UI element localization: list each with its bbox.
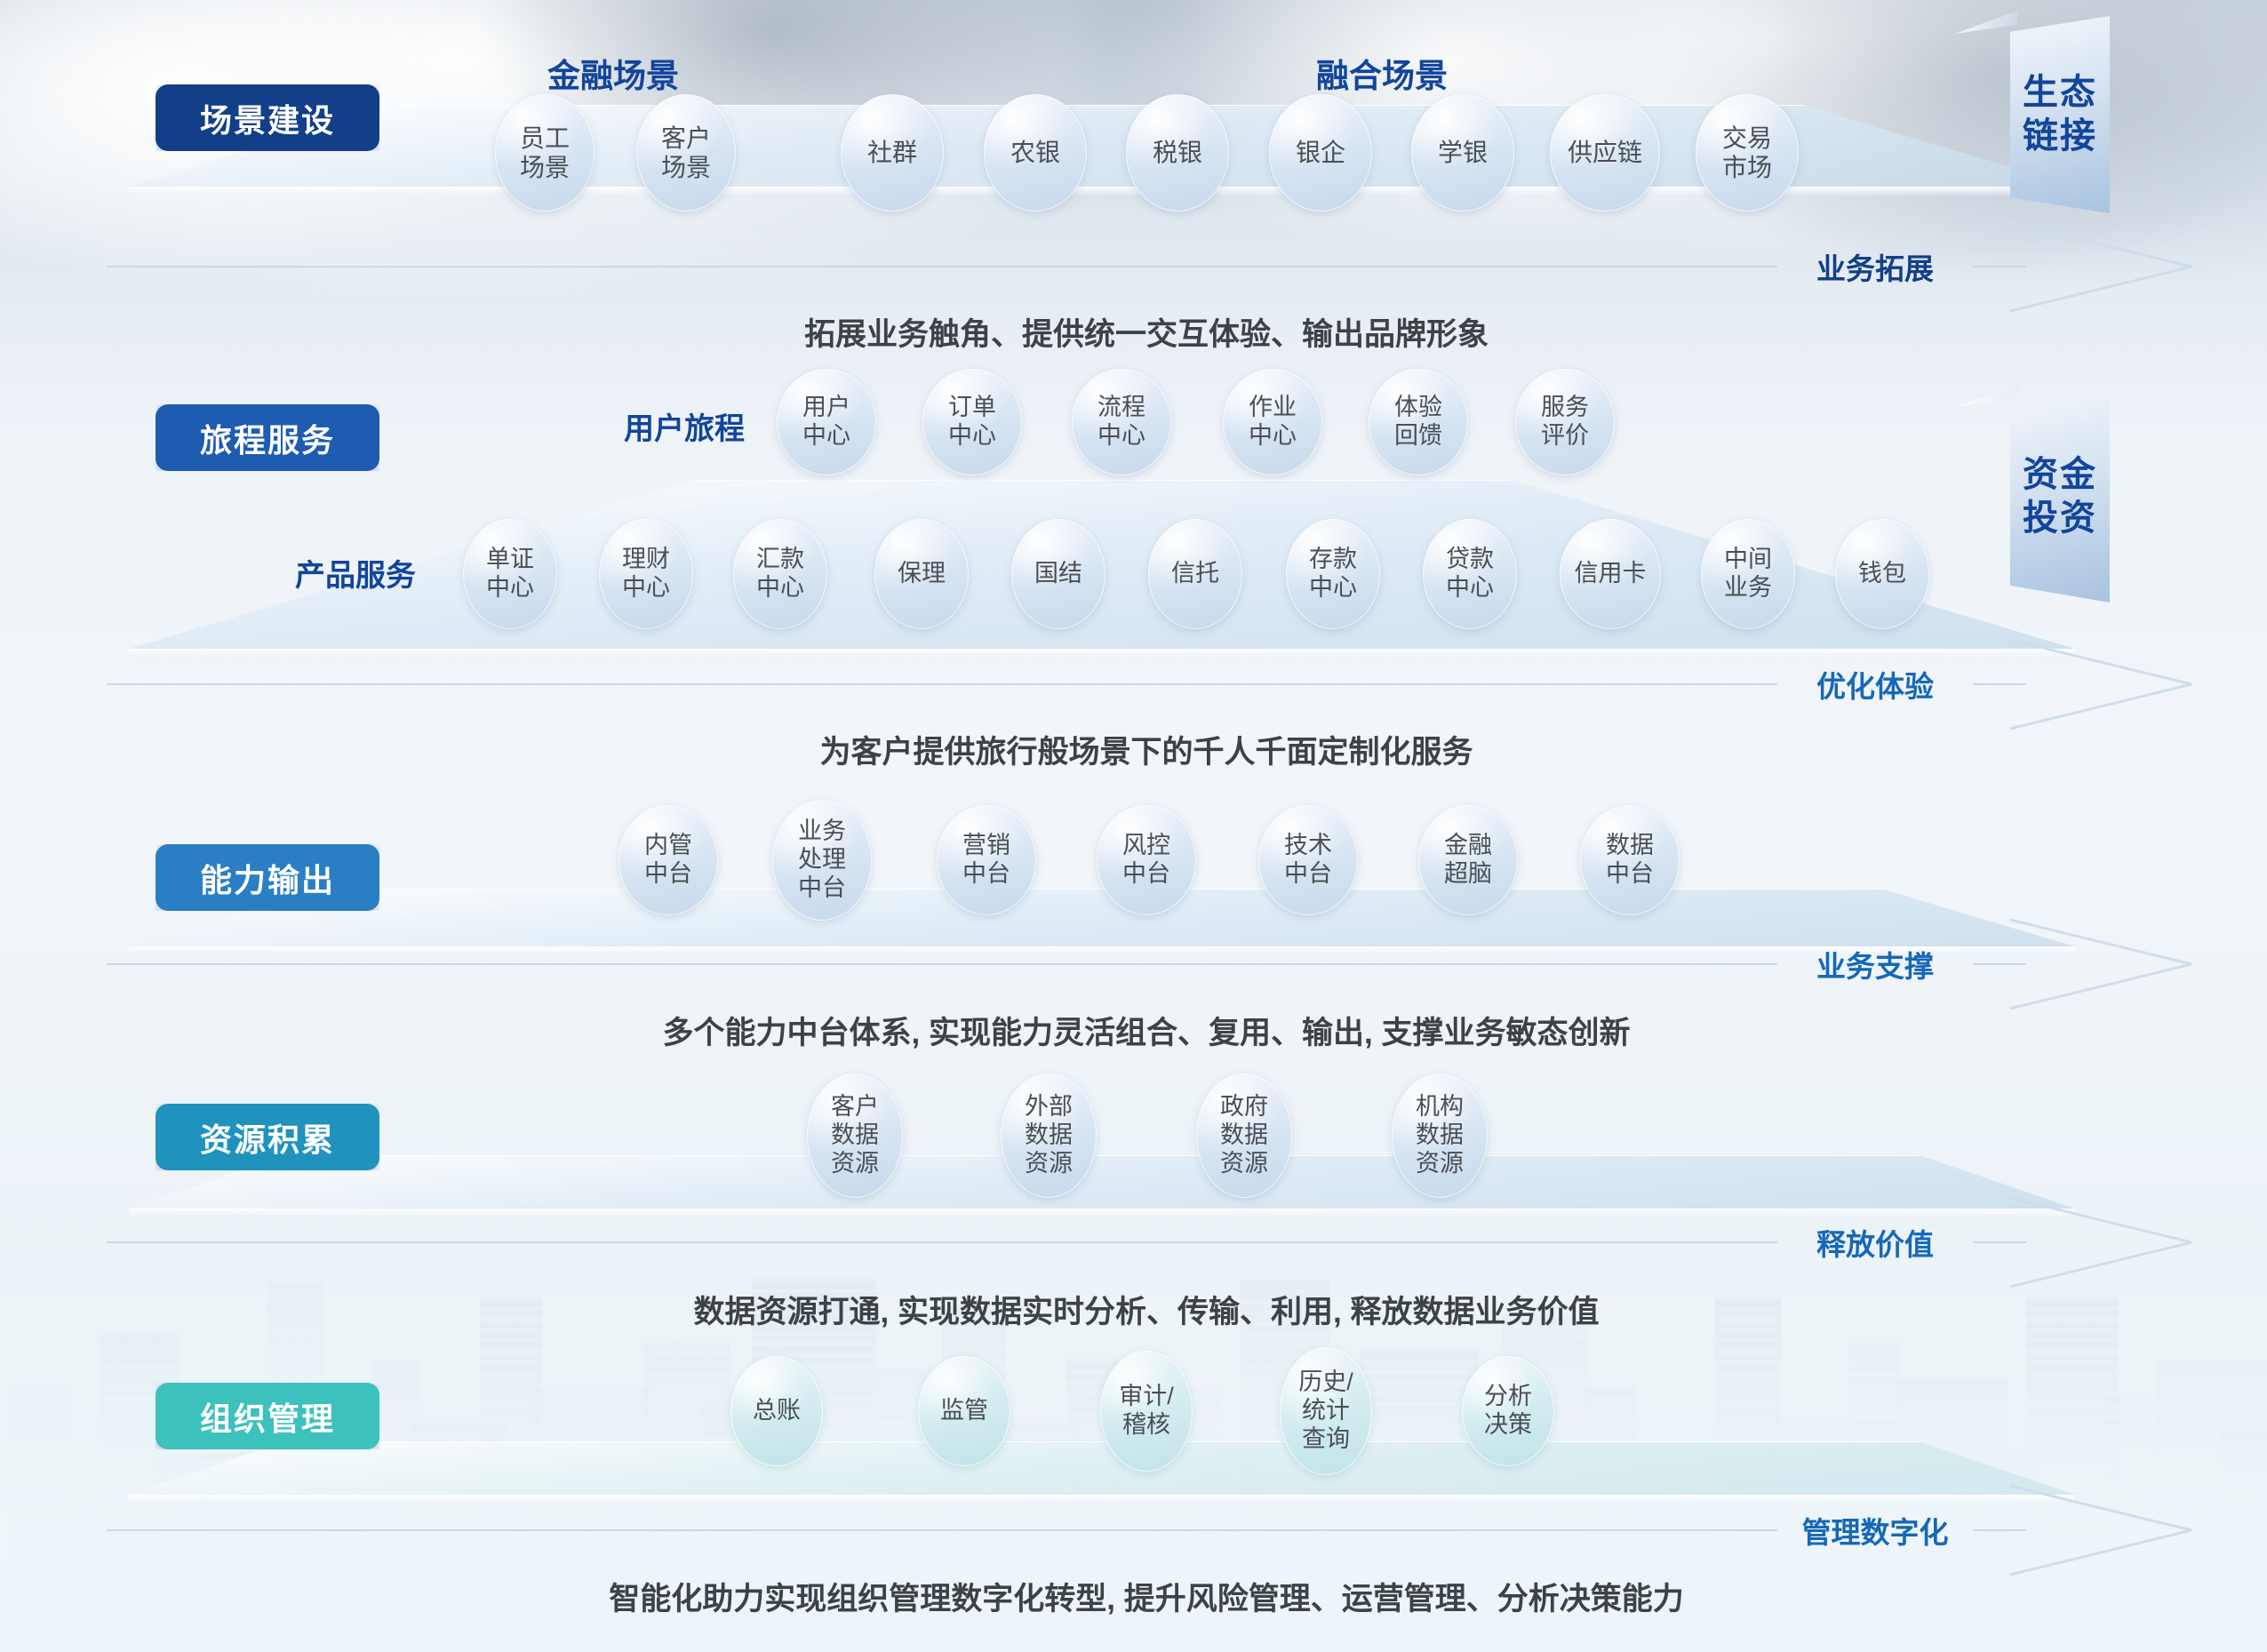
tier-label-scene-construction[interactable]: 场景建设 xyxy=(156,84,379,151)
node-label: 客户场景 xyxy=(661,124,711,182)
node-oval[interactable]: 供应链 xyxy=(1550,94,1660,211)
node-oval[interactable]: 贷款中心 xyxy=(1423,519,1517,629)
tier-label-text: 能力输出 xyxy=(200,855,335,901)
node-oval[interactable]: 业务处理中台 xyxy=(772,800,872,921)
tier-label-resource-accumulation[interactable]: 资源积累 xyxy=(156,1104,379,1170)
node-oval[interactable]: 历史/统计查询 xyxy=(1280,1347,1372,1475)
node-label: 外部数据资源 xyxy=(1025,1093,1073,1178)
node-oval[interactable]: 汇款中心 xyxy=(733,519,827,629)
node-label: 作业中心 xyxy=(1249,394,1297,451)
band-chevron-icon xyxy=(2008,918,2195,1010)
node-label: 员工场景 xyxy=(520,124,570,182)
tier-label-organization-management[interactable]: 组织管理 xyxy=(156,1383,379,1449)
node-oval[interactable]: 交易市场 xyxy=(1696,94,1799,211)
node-oval[interactable]: 保理 xyxy=(874,519,969,629)
band-chevron-icon xyxy=(2008,638,2195,730)
node-oval[interactable]: 营销中台 xyxy=(937,805,1036,915)
node-oval[interactable]: 金融超脑 xyxy=(1418,805,1518,915)
node-label: 社群 xyxy=(867,138,917,167)
group-heading-journey-service-1: 产品服务 xyxy=(295,551,416,595)
node-oval[interactable]: 学银 xyxy=(1411,94,1514,211)
tier-label-text: 旅程服务 xyxy=(200,415,335,461)
tier-ledge-organization-management xyxy=(129,1495,2075,1504)
node-label: 税银 xyxy=(1153,138,1202,167)
band-rule-left xyxy=(107,1241,1777,1243)
group-heading-scene-construction-1: 融合场景 xyxy=(1316,49,1448,97)
node-oval[interactable]: 审计/稽核 xyxy=(1100,1351,1193,1472)
side-banner-wing xyxy=(1955,384,2017,407)
side-banner-line2: 投资 xyxy=(2010,497,2110,540)
node-label: 交易市场 xyxy=(1722,124,1772,182)
tier-label-arrow-icon xyxy=(379,1397,403,1436)
node-label: 理财中心 xyxy=(622,546,670,603)
tier-slab-face xyxy=(129,889,2075,946)
band-label-scene-construction: 业务拓展 xyxy=(1816,245,1934,288)
node-oval[interactable]: 服务评价 xyxy=(1515,369,1615,475)
node-oval[interactable]: 农银 xyxy=(984,94,1087,211)
node-oval[interactable]: 机构数据资源 xyxy=(1392,1073,1488,1198)
node-label: 分析决策 xyxy=(1484,1383,1532,1440)
architecture-diagram: 场景建设金融场景融合场景员工场景客户场景社群农银税银银企学银供应链交易市场业务拓… xyxy=(0,0,2267,1652)
node-label: 存款中心 xyxy=(1309,546,1357,603)
tier-label-arrow-icon xyxy=(379,419,403,458)
node-oval[interactable]: 订单中心 xyxy=(922,369,1022,475)
group-heading-scene-construction-0: 金融场景 xyxy=(547,49,679,97)
tier-ledge-capability-output xyxy=(129,946,2075,955)
band-chevron-icon xyxy=(2008,1484,2195,1576)
tier-slab-resource-accumulation xyxy=(129,1155,2075,1209)
node-label: 贷款中心 xyxy=(1446,546,1494,603)
node-label: 用户中心 xyxy=(802,394,850,451)
node-oval[interactable]: 中间业务 xyxy=(1701,519,1795,629)
node-oval[interactable]: 内管中台 xyxy=(619,805,718,915)
node-oval[interactable]: 监管 xyxy=(918,1356,1010,1466)
side-banner-line2: 链接 xyxy=(2010,115,2110,158)
node-oval[interactable]: 用户中心 xyxy=(777,369,876,475)
band-label-journey-service: 优化体验 xyxy=(1816,663,1934,706)
node-oval[interactable]: 信用卡 xyxy=(1560,519,1661,629)
band-label-capability-output: 业务支撑 xyxy=(1816,943,1934,986)
node-oval[interactable]: 体验回馈 xyxy=(1369,369,1468,475)
tier-caption-capability-output: 多个能力中台体系, 实现能力灵活组合、复用、输出, 支撑业务敏态创新 xyxy=(663,1008,1631,1053)
node-label: 机构数据资源 xyxy=(1416,1093,1464,1178)
side-banner-capital-investment: 资金投资 xyxy=(2010,391,2110,603)
side-banner-text: 资金投资 xyxy=(2010,453,2110,540)
tier-label-text: 资源积累 xyxy=(200,1114,335,1161)
node-label: 银企 xyxy=(1296,138,1345,167)
tier-caption-resource-accumulation: 数据资源打通, 实现数据实时分析、传输、利用, 释放数据业务价值 xyxy=(694,1287,1600,1332)
node-label: 内管中台 xyxy=(644,832,692,889)
node-label: 钱包 xyxy=(1858,560,1906,588)
node-oval[interactable]: 技术中台 xyxy=(1258,805,1358,915)
node-oval[interactable]: 作业中心 xyxy=(1223,369,1322,475)
node-label: 监管 xyxy=(940,1397,988,1425)
node-label: 审计/稽核 xyxy=(1119,1383,1174,1440)
band-chevron-icon xyxy=(2008,1196,2195,1289)
node-oval[interactable]: 单证中心 xyxy=(463,519,557,629)
band-chevron-icon xyxy=(2008,220,2195,313)
node-label: 保理 xyxy=(898,560,946,588)
tier-slab-face xyxy=(129,1441,2075,1495)
node-oval[interactable]: 客户场景 xyxy=(636,94,736,211)
node-oval[interactable]: 流程中心 xyxy=(1072,369,1171,475)
node-label: 体验回馈 xyxy=(1394,394,1442,451)
group-heading-journey-service-0: 用户旅程 xyxy=(624,404,745,448)
band-rule-left xyxy=(107,266,1777,267)
node-oval[interactable]: 数据中台 xyxy=(1580,805,1680,915)
node-label: 客户数据资源 xyxy=(831,1093,879,1178)
side-banner-wing xyxy=(1955,11,2017,34)
tier-caption-scene-construction: 拓展业务触角、提供统一交互体验、输出品牌形象 xyxy=(804,309,1489,355)
tier-label-capability-output[interactable]: 能力输出 xyxy=(156,844,379,911)
node-oval[interactable]: 银企 xyxy=(1269,94,1372,211)
tier-ledge-resource-accumulation xyxy=(129,1209,2075,1217)
node-label: 服务评价 xyxy=(1541,394,1589,451)
node-label: 供应链 xyxy=(1568,138,1642,167)
side-banner-line1: 资金 xyxy=(2010,453,2110,497)
tier-label-text: 场景建设 xyxy=(200,95,335,141)
node-label: 信托 xyxy=(1171,560,1219,588)
node-label: 单证中心 xyxy=(486,546,534,603)
node-oval[interactable]: 国结 xyxy=(1011,519,1106,629)
node-oval[interactable]: 外部数据资源 xyxy=(1001,1073,1097,1198)
node-oval[interactable]: 社群 xyxy=(841,94,944,211)
node-label: 数据中台 xyxy=(1606,832,1654,889)
tier-slab-organization-management xyxy=(129,1441,2075,1495)
band-label-resource-accumulation: 释放价值 xyxy=(1816,1221,1934,1264)
node-oval[interactable]: 信托 xyxy=(1148,519,1242,629)
node-label: 流程中心 xyxy=(1098,394,1145,451)
node-oval[interactable]: 员工场景 xyxy=(495,94,595,211)
tier-slab-capability-output xyxy=(129,889,2075,946)
tier-label-text: 组织管理 xyxy=(200,1393,335,1440)
node-oval[interactable]: 总账 xyxy=(730,1356,823,1466)
tier-caption-journey-service: 为客户提供旅行般场景下的千人千面定制化服务 xyxy=(819,727,1473,772)
node-label: 国结 xyxy=(1034,560,1082,588)
node-oval[interactable]: 存款中心 xyxy=(1286,519,1380,629)
node-oval[interactable]: 钱包 xyxy=(1835,519,1929,629)
node-label: 风控中台 xyxy=(1122,832,1170,889)
side-banner-ecosystem-link: 生态链接 xyxy=(2010,16,2110,213)
tier-label-journey-service[interactable]: 旅程服务 xyxy=(156,404,379,471)
band-rule-left xyxy=(107,683,1777,685)
tier-slab-face xyxy=(129,1155,2075,1209)
band-rule-left xyxy=(107,1529,1777,1531)
band-rule-left xyxy=(107,963,1777,965)
node-label: 总账 xyxy=(753,1397,801,1425)
side-banner-line1: 生态 xyxy=(2010,71,2110,115)
node-label: 中间业务 xyxy=(1724,546,1772,603)
node-label: 技术中台 xyxy=(1284,832,1332,889)
node-label: 信用卡 xyxy=(1575,560,1647,588)
node-label: 汇款中心 xyxy=(756,546,804,603)
band-label-organization-management: 管理数字化 xyxy=(1802,1509,1949,1552)
node-label: 政府数据资源 xyxy=(1220,1093,1268,1178)
node-oval[interactable]: 理财中心 xyxy=(599,519,693,629)
tier-ledge-journey-service xyxy=(129,649,2075,658)
node-oval[interactable]: 客户数据资源 xyxy=(807,1073,903,1198)
node-label: 农银 xyxy=(1010,138,1060,167)
node-oval[interactable]: 风控中台 xyxy=(1097,805,1196,915)
tier-caption-organization-management: 智能化助力实现组织管理数字化转型, 提升风险管理、运营管理、分析决策能力 xyxy=(609,1574,1683,1619)
node-oval[interactable]: 税银 xyxy=(1126,94,1229,211)
node-label: 学银 xyxy=(1438,138,1488,167)
node-oval[interactable]: 分析决策 xyxy=(1462,1356,1554,1466)
node-oval[interactable]: 政府数据资源 xyxy=(1196,1073,1292,1198)
side-banner-text: 生态链接 xyxy=(2010,71,2110,158)
tier-label-arrow-icon xyxy=(379,1118,403,1157)
node-label: 金融超脑 xyxy=(1444,832,1492,889)
node-label: 历史/统计查询 xyxy=(1298,1369,1353,1454)
node-label: 业务处理中台 xyxy=(798,818,846,903)
node-label: 营销中台 xyxy=(962,832,1010,889)
node-label: 订单中心 xyxy=(948,394,996,451)
